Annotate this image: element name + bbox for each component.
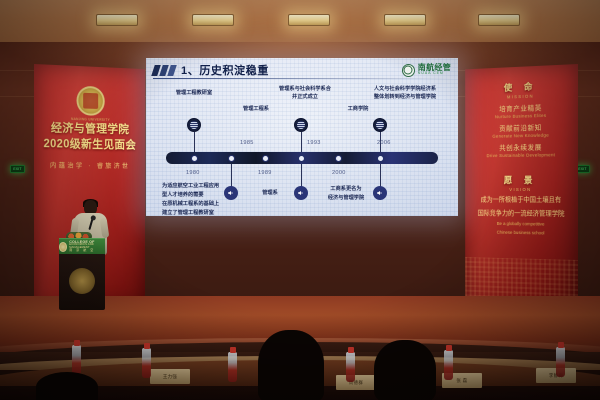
exit-sign-label: EXIT bbox=[578, 167, 586, 171]
timeline-label-business-school: 工商学院 bbox=[336, 106, 380, 114]
right-banner: 使 命 MISSION 培育产业精英 Nurture Business Elit… bbox=[465, 64, 578, 316]
vision-body-en-line1: Be a globally competitive bbox=[471, 221, 571, 229]
timeline-detail-1989: 管理系 bbox=[250, 190, 290, 198]
timeline-year-1980: 1980 bbox=[186, 170, 200, 176]
timeline-year-1993: 1993 bbox=[307, 140, 321, 146]
podium-emblem-icon bbox=[69, 268, 95, 294]
water-bottle bbox=[444, 350, 453, 380]
name-placard: 周德群 bbox=[336, 375, 376, 390]
timeline-year-2006: 2006 bbox=[377, 140, 391, 146]
timeline-node bbox=[298, 155, 305, 162]
timeline-detail-2000: 工商系更名为 经济与管理学院 bbox=[318, 185, 374, 204]
exit-sign-label: EXIT bbox=[13, 167, 21, 171]
audience-silhouette bbox=[374, 340, 436, 400]
school-logo-mark-icon bbox=[402, 64, 415, 77]
podium: COLLEGE OF ECONOMICS AND MANAGEMENT 南 京 … bbox=[59, 238, 105, 310]
timeline-year-1985: 1985 bbox=[240, 140, 254, 146]
projection-slide: 1、历史积淀稳重 南航经管 NUAA CEM 管理工程教研室 管理工程系 管理系… bbox=[146, 58, 458, 216]
ceiling-light bbox=[478, 14, 520, 26]
timeline-label-2006: 人文与社会科学学院经济系 整体划转到经济与管理学院 bbox=[362, 86, 448, 102]
banner-slogan: 内蕴治学 · 睿旅济世 bbox=[40, 159, 140, 170]
placard-label: 张 磊 bbox=[456, 378, 467, 384]
slide-title: 1、历史积淀稳重 bbox=[181, 62, 269, 78]
mission-item-en: Generate New Knowledge bbox=[471, 132, 571, 139]
timeline-year-2000: 2000 bbox=[332, 170, 346, 176]
water-bottle bbox=[142, 348, 151, 378]
podium-banner: COLLEGE OF ECONOMICS AND MANAGEMENT 南 京 … bbox=[59, 238, 105, 254]
water-bottle bbox=[346, 352, 355, 382]
title-bars-icon bbox=[153, 65, 175, 76]
banner-title-line1: 经济与管理学院 bbox=[40, 121, 140, 138]
vision-body-en-line2: Chinese business school bbox=[471, 229, 571, 237]
water-bottle bbox=[556, 347, 565, 377]
podium-seal-icon bbox=[59, 242, 67, 252]
ceiling-light bbox=[96, 14, 138, 26]
ceiling-light bbox=[288, 14, 330, 26]
timeline-label-1980: 管理工程教研室 bbox=[162, 90, 226, 98]
megaphone-icon bbox=[373, 186, 387, 200]
header-divider bbox=[153, 78, 451, 79]
megaphone-icon bbox=[294, 186, 308, 200]
name-placard: 王力强 bbox=[150, 369, 190, 384]
timeline-node bbox=[262, 155, 269, 162]
exit-sign-left: EXIT bbox=[10, 165, 25, 173]
vision-body-cn-line1: 成为一所根植于中国土壤且有 bbox=[471, 196, 571, 206]
megaphone-icon bbox=[224, 186, 238, 200]
audience-silhouette bbox=[36, 372, 98, 400]
timeline-node bbox=[228, 155, 235, 162]
ceiling-light bbox=[384, 14, 426, 26]
timeline-node bbox=[335, 155, 342, 162]
banner-title-line2: 2020级新生见面会 bbox=[40, 137, 140, 154]
podium-text-line3: 南 京 航 空 bbox=[69, 249, 105, 252]
vision-heading-cn: 愿 景 bbox=[471, 173, 571, 186]
vision-heading-en: VISION bbox=[471, 187, 571, 192]
water-bottle bbox=[228, 352, 237, 382]
timeline-node bbox=[191, 155, 198, 162]
vision-body-cn-line2: 国际竞争力的一流经济管理学院 bbox=[471, 209, 571, 220]
timeline-marker-icon bbox=[187, 118, 201, 132]
ceiling-light bbox=[192, 14, 234, 26]
placard-label: 王力强 bbox=[163, 374, 177, 380]
school-logo: 南航经管 NUAA CEM bbox=[402, 64, 451, 77]
slide-header: 1、历史积淀稳重 南航经管 NUAA CEM bbox=[146, 58, 458, 82]
timeline-year-1989: 1989 bbox=[258, 170, 272, 176]
university-emblem-icon bbox=[77, 86, 105, 116]
timeline-detail-1980: 为适应航空工业工程应用 型人才培养的需要 在原机械工程系的基础上 建立了管理工程… bbox=[162, 182, 224, 216]
timeline: 管理工程教研室 管理工程系 管理系与社会科学系合 并正式成立 工商学院 人文与社… bbox=[146, 82, 458, 216]
timeline-marker-icon bbox=[294, 118, 308, 132]
timeline-label-1993: 管理系与社会科学系合 并正式成立 bbox=[272, 86, 338, 102]
logo-text-en: NUAA CEM bbox=[418, 72, 451, 76]
water-bottle bbox=[72, 345, 81, 375]
timeline-marker-icon bbox=[373, 118, 387, 132]
audience-silhouette bbox=[258, 330, 324, 400]
timeline-label-1985: 管理工程系 bbox=[230, 106, 282, 114]
timeline-node bbox=[377, 155, 384, 162]
auditorium-scene: EXIT EXIT NANJING UNIVERSITY 经济与管理学院 202… bbox=[0, 0, 600, 400]
